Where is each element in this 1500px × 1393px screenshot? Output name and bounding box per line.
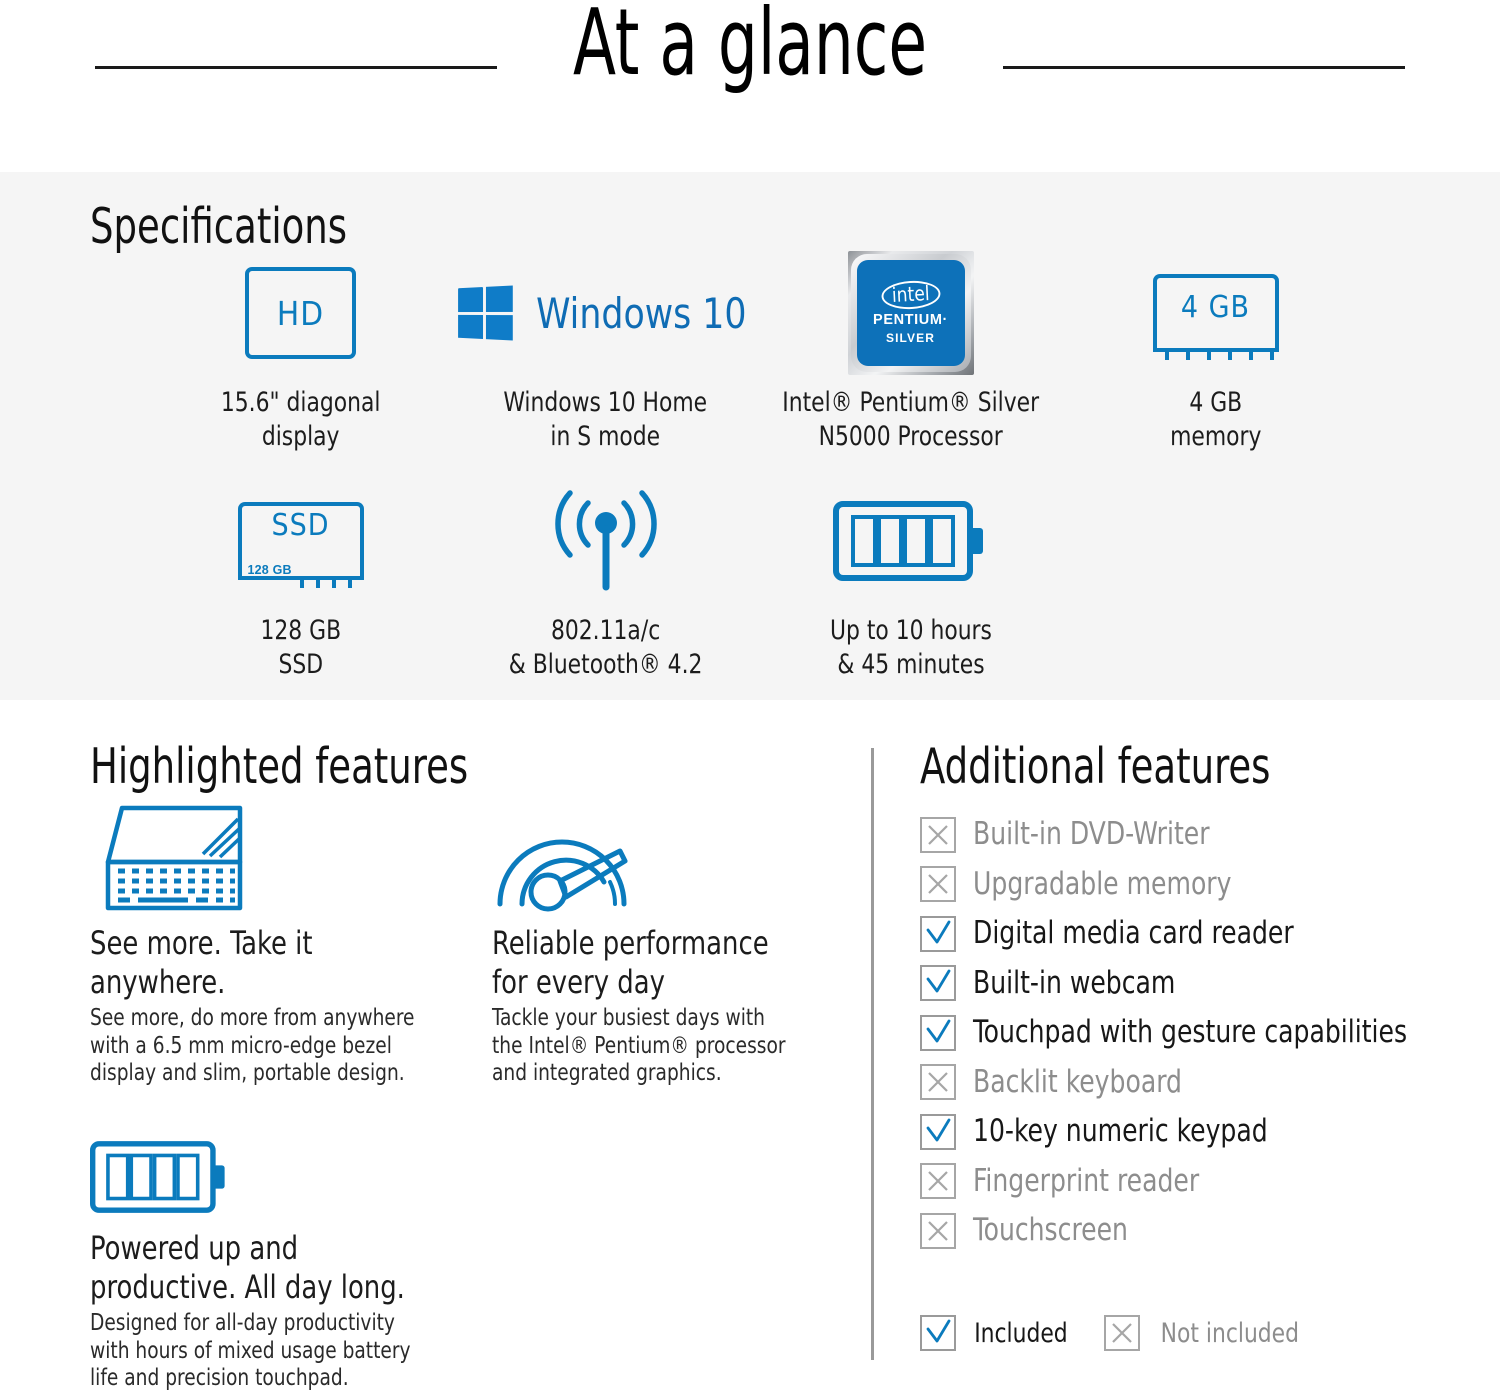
list-item: 10-key numeric keypad (920, 1107, 1480, 1157)
list-item-label: Built-in webcam (973, 968, 1175, 999)
hd-display-icon-label: HD (245, 267, 356, 359)
feature-title-reliable-performance: Reliable performance for every day (492, 924, 789, 1002)
hd-display-icon: HD (245, 254, 356, 372)
memory-icon-teeth (1165, 351, 1274, 360)
specifications-heading: Specifications (90, 198, 347, 255)
intel-pentium-silver-badge-icon: intel PENTIUM· SILVER (848, 254, 974, 372)
specifications-row-2: SSD 128 GB 128 GB SSD (148, 482, 1368, 682)
list-item-label: Upgradable memory (973, 869, 1231, 900)
list-item-label: 10-key numeric keypad (973, 1116, 1268, 1147)
additional-features-heading: Additional features (920, 738, 1270, 795)
list-item-label: Digital media card reader (973, 918, 1294, 949)
spec-label-processor: Intel® Pentium® Silver N5000 Processor (782, 386, 1039, 454)
close-icon (920, 817, 956, 853)
intel-pentium-text: PENTIUM· (873, 312, 948, 328)
list-item: Backlit keyboard (920, 1058, 1480, 1108)
intel-silver-text: SILVER (886, 331, 935, 345)
highlighted-features-heading: Highlighted features (90, 738, 468, 795)
feature-body-powered-up: Designed for all-day productivity with h… (90, 1310, 432, 1393)
memory-icon-label: 4 GB (1153, 290, 1279, 325)
feature-see-more: See more. Take it anywhere. See more, do… (90, 800, 470, 1088)
spec-item-processor: intel PENTIUM· SILVER Intel® Pentium® Si… (758, 254, 1063, 454)
spec-label-wireless: 802.11a/c & Bluetooth® 4.2 (509, 614, 703, 682)
feature-powered-up: Powered up and productive. All day long.… (90, 1105, 470, 1393)
memory-stick-icon: 4 GB (1153, 254, 1279, 372)
ssd-icon-label: SSD (238, 508, 364, 543)
laptop-open-icon (90, 800, 470, 912)
specifications-section: Specifications HD 15.6" diagonal display… (0, 172, 1500, 700)
ssd-icon-teeth (300, 577, 352, 588)
spec-label-os: Windows 10 Home in S mode (504, 386, 708, 454)
check-icon (920, 1114, 956, 1150)
check-icon (920, 1315, 956, 1351)
windows-flag-icon (458, 286, 513, 341)
list-item-label: Touchpad with gesture capabilities (973, 1017, 1407, 1048)
additional-features-list: Built-in DVD-Writer Upgradable memory Di… (920, 810, 1480, 1256)
close-icon (920, 1213, 956, 1249)
highlighted-features-heading-wrap: Highlighted features (90, 738, 540, 795)
additional-features-heading-wrap: Additional features (920, 738, 1337, 795)
bottom-section: Highlighted features Additional features (0, 700, 1500, 1389)
list-item: Digital media card reader (920, 909, 1480, 959)
list-item-label: Built-in DVD-Writer (973, 819, 1210, 850)
spec-label-display: 15.6" diagonal display (221, 386, 381, 454)
list-item-label: Fingerprint reader (973, 1166, 1199, 1197)
ssd-stick-icon: SSD 128 GB (238, 482, 364, 600)
spec-item-battery: Up to 10 hours & 45 minutes (758, 482, 1063, 682)
list-item-label: Backlit keyboard (973, 1067, 1182, 1098)
list-item: Fingerprint reader (920, 1157, 1480, 1207)
list-item: Built-in DVD-Writer (920, 810, 1480, 860)
feature-reliable-performance: Reliable performance for every day Tackl… (492, 800, 822, 1088)
check-icon (920, 965, 956, 1001)
intel-brand-text: intel (881, 279, 941, 310)
feature-body-see-more: See more, do more from anywhere with a 6… (90, 1005, 432, 1088)
windows-wordmark: Windows 10 (536, 289, 746, 338)
feature-title-see-more: See more. Take it anywhere. (90, 924, 432, 1002)
list-item: Touchscreen (920, 1206, 1480, 1256)
spec-item-display: HD 15.6" diagonal display (148, 254, 453, 454)
check-icon (920, 1015, 956, 1051)
list-item-label: Touchscreen (973, 1215, 1128, 1246)
page-header: At a glance (0, 0, 1500, 172)
specifications-row-1: HD 15.6" diagonal display Windows 10 Win… (148, 254, 1368, 454)
close-icon (920, 1064, 956, 1100)
list-item: Built-in webcam (920, 959, 1480, 1009)
ssd-icon-capacity: 128 GB (248, 563, 292, 577)
spec-item-os: Windows 10 Windows 10 Home in S mode (453, 254, 758, 454)
legend-not-included-label: Not included (1161, 1318, 1299, 1349)
legend: Included Not included (920, 1315, 1307, 1351)
spec-item-storage: SSD 128 GB 128 GB SSD (148, 482, 453, 682)
close-icon (1104, 1315, 1140, 1351)
close-icon (920, 1163, 956, 1199)
close-icon (920, 866, 956, 902)
feature-body-reliable-performance: Tackle your busiest days with the Intel®… (492, 1005, 789, 1088)
windows-10-logo-icon: Windows 10 (456, 254, 756, 372)
list-item: Touchpad with gesture capabilities (920, 1008, 1480, 1058)
feature-title-powered-up: Powered up and productive. All day long. (90, 1229, 432, 1307)
page-title: At a glance (180, 0, 1320, 96)
battery-icon (833, 482, 989, 600)
legend-included-label: Included (974, 1318, 1067, 1349)
list-item: Upgradable memory (920, 860, 1480, 910)
spec-item-memory: 4 GB 4 GB memory (1063, 254, 1368, 454)
battery-icon (90, 1105, 470, 1217)
spec-item-wireless: 802.11a/c & Bluetooth® 4.2 (453, 482, 758, 682)
spec-label-storage: 128 GB SSD (260, 614, 341, 682)
spec-label-battery: Up to 10 hours & 45 minutes (830, 614, 992, 682)
column-divider (871, 748, 874, 1360)
check-icon (920, 916, 956, 952)
wifi-antenna-icon (544, 482, 668, 600)
speedometer-icon (492, 800, 822, 912)
spec-label-memory: 4 GB memory (1170, 386, 1261, 454)
specifications-heading-wrap: Specifications (90, 198, 396, 255)
